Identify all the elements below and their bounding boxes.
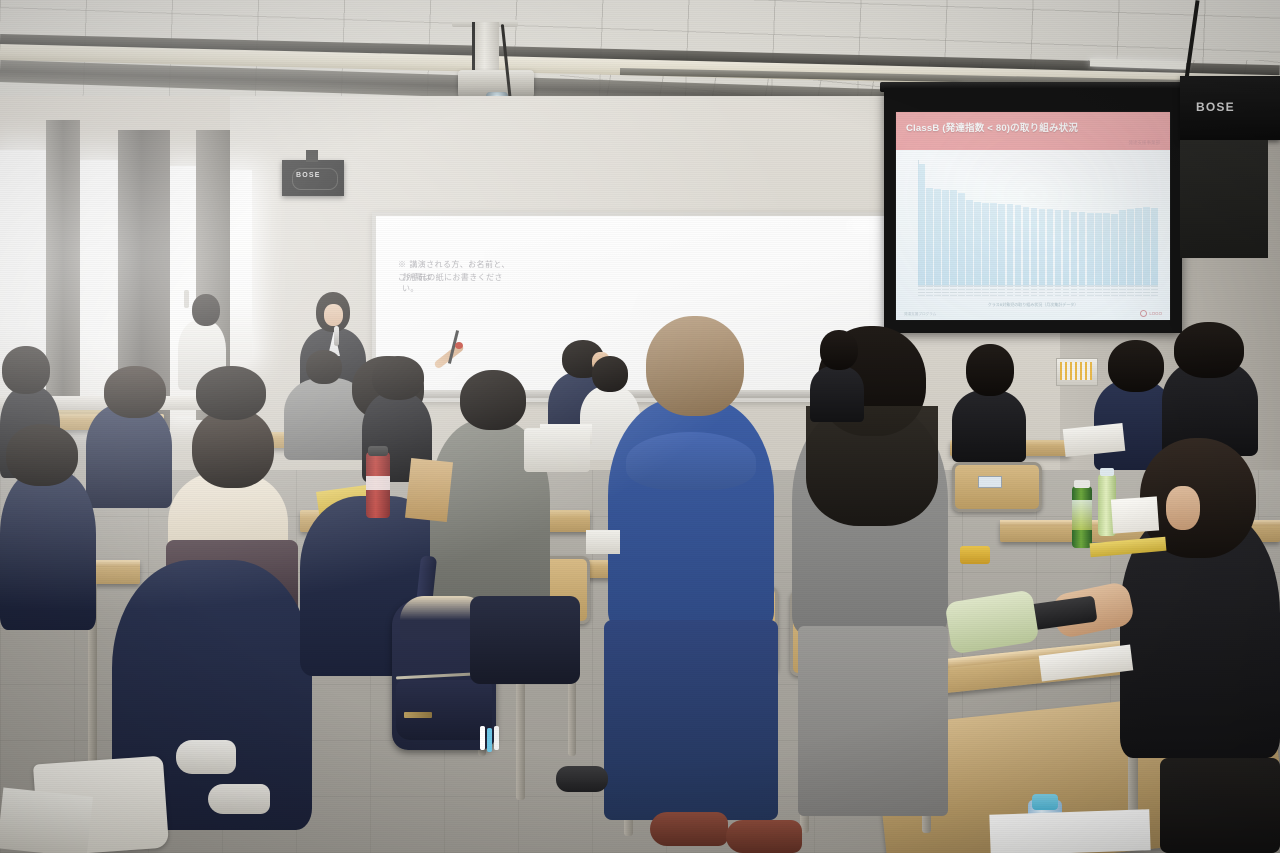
dark-bag-on-chair (470, 596, 580, 684)
chart-x-tick (1007, 286, 1014, 296)
backpack-front-pocket (396, 680, 492, 740)
pen-grey-icon (494, 726, 499, 750)
chart-x-tick (966, 286, 973, 296)
attendee-right-foreground-face (1166, 486, 1200, 530)
chart-x-tick (918, 286, 925, 296)
attendee-blue-hoodie-head (646, 316, 744, 416)
chart-bar (950, 190, 957, 286)
chart-bar (926, 188, 933, 286)
chart-bar (1087, 213, 1094, 286)
attendee-grey-coat-hair-long (806, 406, 938, 526)
attendee-left-3-body (0, 470, 96, 630)
speaker-right-column (1180, 140, 1268, 258)
chart-x-tick (1119, 286, 1126, 296)
chart-x-tick (1111, 286, 1118, 296)
shoe-dark (556, 766, 608, 792)
chart-bar (1015, 205, 1022, 286)
chart-bar (998, 204, 1005, 286)
chart-bar (974, 202, 981, 286)
chart-bar (1047, 209, 1054, 286)
chart-x-tick (1151, 286, 1158, 296)
thermos-cap (368, 446, 388, 456)
chart-x-tick (1023, 286, 1030, 296)
chart-bar (966, 200, 973, 286)
chair-back-right-sticker (978, 476, 1002, 488)
chart-x-tick (982, 286, 989, 296)
chart-x-tick (926, 286, 933, 296)
backpack-pens (480, 726, 502, 752)
shoe-brown-1 (650, 812, 728, 846)
attendee-cream-sweater-head (192, 408, 274, 488)
attendee-left-2-head (104, 366, 166, 418)
attendee-olive-head (460, 370, 526, 430)
chart-x-tick (1039, 286, 1046, 296)
chart-x-tick (1143, 286, 1150, 296)
paper-bag (405, 458, 453, 522)
attendee-rear-left-head (192, 294, 220, 326)
chart-bar (982, 203, 989, 286)
chart-bar (1119, 210, 1126, 286)
bar-chart (918, 160, 1158, 286)
attendee-back-right-2-body (952, 390, 1026, 462)
chart-caption: クラスB対象児の取り組み状況（月次集計データ） (896, 302, 1170, 308)
attendee-right-2-head (1174, 322, 1244, 378)
attendee-blue-hoodie-lower (604, 620, 778, 820)
logo-mark-icon (1140, 310, 1147, 317)
chart-x-tick (1015, 286, 1022, 296)
chart-bar (1151, 208, 1158, 286)
paper-center (586, 530, 620, 554)
projection-screen-canvas: ClassB (発達指数 < 80)の取り組み状況 発達支援事業部 クラスB対象… (896, 112, 1170, 320)
chart-x-tick-labels (918, 286, 1158, 298)
chart-bar (1111, 214, 1118, 286)
chart-bar (918, 164, 925, 286)
attendee-back-right-2-head (966, 344, 1014, 396)
slide-title: ClassB (発達指数 < 80)の取り組み状況 (906, 120, 1078, 134)
chart-bar (942, 190, 949, 286)
chart-bar (1095, 213, 1102, 286)
pen-white-icon (480, 726, 485, 750)
attendee-right-1-head (1108, 340, 1164, 392)
pen-blue-icon (487, 728, 492, 752)
chart-x-tick (974, 286, 981, 296)
attendee-blue-hoodie-hood (626, 432, 756, 490)
attendee-grey-suit-head (306, 350, 342, 384)
white-towel (524, 428, 590, 472)
logo-text: LOGO (1149, 311, 1162, 316)
bose-speaker-right: BOSE (1180, 76, 1280, 140)
chart-x-tick (1095, 286, 1102, 296)
chart-bar (1143, 207, 1150, 286)
chart-bar (1007, 204, 1014, 286)
chart-bar (1039, 209, 1046, 286)
chart-bar (1063, 210, 1070, 286)
chart-x-tick (1079, 286, 1086, 296)
chart-bar (1055, 210, 1062, 286)
attendee-left-3-head (6, 424, 78, 486)
chart-bar (1031, 208, 1038, 286)
chart-x-tick (1047, 286, 1054, 296)
wall-rack-contents (1060, 362, 1092, 380)
chart-bar (1127, 209, 1134, 286)
chart-x-tick (950, 286, 957, 296)
green-tea-bottle-2-cap (1100, 468, 1114, 476)
attendee-left-1-head (2, 346, 50, 394)
shoe-left (176, 740, 236, 774)
microphone-icon (334, 326, 339, 346)
attendee-grey-coat-lower (798, 626, 948, 816)
speaker-left-mount (306, 150, 318, 162)
pointer-tip-icon (455, 342, 463, 349)
bose-logo-right: BOSE (1196, 100, 1235, 114)
small-yellow-item (960, 546, 990, 564)
chart-x-tick (1063, 286, 1070, 296)
attendee-left-foreground-head (196, 366, 266, 420)
chart-bar (934, 189, 941, 286)
slide-body: クラスB対象児の取り組み状況（月次集計データ） 発達支援プログラム LOGO (896, 150, 1170, 320)
attendee-back-right-1-head (820, 330, 858, 370)
chart-x-tick (990, 286, 997, 296)
chart-x-tick (1127, 286, 1134, 296)
chart-x-tick (958, 286, 965, 296)
chart-bar (990, 203, 997, 286)
dark-bag-foreground (1160, 758, 1280, 853)
whiteboard-glare (846, 218, 882, 234)
chart-x-tick (934, 286, 941, 296)
attendee-back-right-1-body (810, 366, 864, 422)
whiteboard-handwriting-line-2: お手元の紙にお書きください。 (402, 272, 518, 294)
chart-x-tick (1071, 286, 1078, 296)
chart-x-tick (1031, 286, 1038, 296)
paper-foreground-right (989, 809, 1150, 853)
slide-footer-text: 発達支援プログラム (904, 312, 936, 317)
projector-mount-pole (472, 22, 499, 74)
shoe-left-2 (208, 784, 270, 814)
slide-logo: LOGO (1140, 310, 1162, 317)
chart-x-tick (942, 286, 949, 296)
green-tea-bottle-1-cap (1074, 480, 1090, 488)
chart-bar (1079, 212, 1086, 286)
thermos-label (366, 476, 390, 490)
presenter-face (324, 304, 343, 326)
chart-bar (1071, 212, 1078, 286)
chart-x-tick (1055, 286, 1062, 296)
wall-pillar-left (46, 120, 80, 420)
backpack-brand-tag (404, 712, 432, 718)
green-tea-bottle-1-label (1072, 500, 1092, 530)
chart-bar (1023, 207, 1030, 286)
classroom-photo: ※ 講演される方、お名前と、ご所属は お手元の紙にお書きください。 ClassB… (0, 0, 1280, 853)
chart-bar (1103, 213, 1110, 286)
speaker-left-grill (292, 168, 338, 190)
white-bag-2 (0, 787, 93, 853)
chart-x-tick (1103, 286, 1110, 296)
shoe-brown-2 (726, 820, 802, 853)
slide-subtitle: 発達支援事業部 (1129, 140, 1161, 146)
chart-x-tick (1135, 286, 1142, 296)
attendee-left-2-body (86, 404, 172, 508)
chart-bar (1135, 208, 1142, 286)
attendee-white-shirt-head (592, 356, 628, 392)
paper-stack-right (1111, 496, 1159, 533)
window-latch-icon[interactable] (184, 290, 189, 308)
chart-x-tick (1087, 286, 1094, 296)
chart-bar (958, 193, 965, 286)
attendee-mid-left-head (372, 356, 424, 400)
water-bottle-cap (1032, 794, 1058, 810)
chart-x-tick (998, 286, 1005, 296)
